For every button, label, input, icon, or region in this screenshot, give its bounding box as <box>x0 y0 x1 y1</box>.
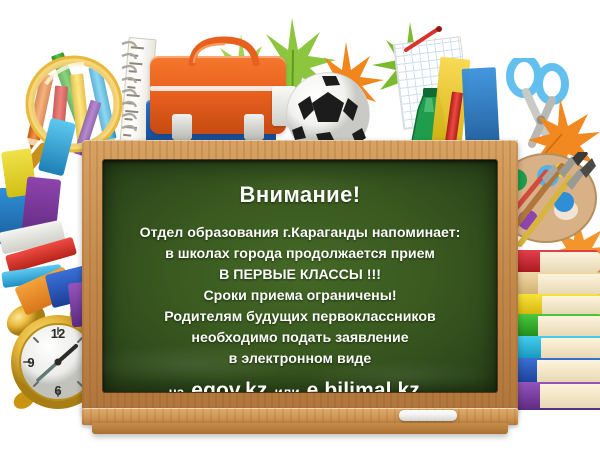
body-line: в школах города продолжается прием <box>165 244 435 264</box>
book-yellow <box>514 294 600 316</box>
url-prefix: на <box>169 385 185 392</box>
svg-text:9: 9 <box>27 355 34 370</box>
buckle-icon <box>172 114 192 140</box>
url-bilimal: e.bilimal.kz <box>307 379 420 392</box>
book-blue <box>506 358 600 384</box>
book-cyan <box>512 336 600 360</box>
body-line: Сроки приема ограничены! <box>203 286 396 306</box>
body-line: в электронном виде <box>229 349 372 369</box>
url-line: на egov.kz или e.bilimal.kz . <box>169 379 432 392</box>
buckle-icon <box>244 114 264 140</box>
chalkboard-surface: Внимание! Отдел образования г.Караганды … <box>103 160 497 392</box>
svg-text:6: 6 <box>54 383 61 398</box>
url-period: . <box>427 384 431 392</box>
briefcase-icon <box>150 56 286 134</box>
body-lines: Отдел образования г.Караганды напоминает… <box>140 223 461 369</box>
headline: Внимание! <box>240 182 361 208</box>
briefcase-handle-icon <box>186 34 262 66</box>
announcement-text: Внимание! Отдел образования г.Караганды … <box>103 160 497 392</box>
chalkboard: Внимание! Отдел образования г.Караганды … <box>82 140 518 430</box>
poster-canvas: 12 9 6 Внимание! Отдел образования г.Кар… <box>0 0 600 450</box>
body-line: Родителям будущих первоклассников <box>164 307 435 327</box>
book-red <box>512 250 600 274</box>
url-egov: egov.kz <box>191 379 267 392</box>
spiral-binding-icon <box>118 34 142 146</box>
chalk-stick-icon <box>399 410 457 421</box>
pen-red-icon <box>404 26 444 52</box>
svg-text:12: 12 <box>51 326 65 341</box>
body-line: В ПЕРВЫЕ КЛАССЫ !!! <box>219 265 381 285</box>
body-line: необходимо подать заявление <box>191 328 408 348</box>
body-line: Отдел образования г.Караганды напоминает… <box>140 223 461 243</box>
url-conjunction: или <box>274 385 299 392</box>
book-green <box>508 314 600 338</box>
chalkboard-ledge-lower <box>92 423 508 434</box>
book-purple <box>510 382 600 410</box>
book-tan <box>508 272 600 296</box>
